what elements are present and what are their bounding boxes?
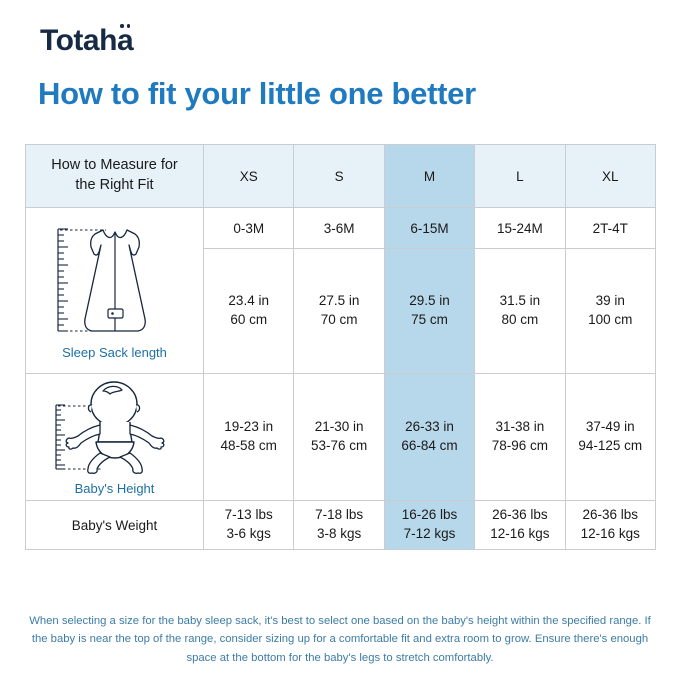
sizing-note: When selecting a size for the baby sleep… — [26, 612, 654, 667]
weight-xs: 7-13 lbs 3-6 kgs — [204, 501, 294, 550]
weight-xl: 26-36 lbs 12-16 kgs — [565, 501, 655, 550]
umlaut-dots-icon — [120, 24, 130, 28]
weight-m: 16-26 lbs 7-12 kgs — [384, 501, 474, 550]
sleep-sack-length-label: Sleep Sack length — [62, 345, 167, 360]
table-row-age: Sleep Sack length 0-3M 3-6M 6-15M 15-24M… — [26, 208, 656, 249]
table-row-baby-height: Baby's Height 19-23 in 48-58 cm 21-30 in… — [26, 374, 656, 501]
brand-umlaut-letter: a — [117, 26, 133, 56]
page-title: How to fit your little one better — [38, 76, 476, 112]
length-xl: 39 in 100 cm — [565, 249, 655, 374]
length-l: 31.5 in 80 cm — [475, 249, 565, 374]
height-xs: 19-23 in 48-58 cm — [204, 374, 294, 501]
size-chart-page: Totaha How to fit your little one better… — [0, 0, 679, 679]
baby-height-label: Baby's Height — [75, 481, 155, 496]
weight-l: 26-36 lbs 12-16 kgs — [475, 501, 565, 550]
height-xl: 37-49 in 94-125 cm — [565, 374, 655, 501]
length-m: 29.5 in 75 cm — [384, 249, 474, 374]
brand-logo: Totaha — [40, 26, 133, 56]
age-m: 6-15M — [384, 208, 474, 249]
table-header-row: How to Measure for the Right Fit XS S M … — [26, 145, 656, 208]
length-s: 27.5 in 70 cm — [294, 249, 384, 374]
baby-illustration-cell: Baby's Height — [26, 374, 204, 501]
size-header-xl: XL — [565, 145, 655, 208]
brand-name-main: Totah — [40, 24, 117, 57]
table-header-measure-label: How to Measure for the Right Fit — [26, 145, 204, 208]
size-header-s: S — [294, 145, 384, 208]
table-row-baby-weight: Baby's Weight 7-13 lbs 3-6 kgs 7-18 lbs … — [26, 501, 656, 550]
size-chart-table: How to Measure for the Right Fit XS S M … — [25, 144, 656, 550]
height-m: 26-33 in 66-84 cm — [384, 374, 474, 501]
baby-weight-label: Baby's Weight — [26, 501, 204, 550]
size-header-xs: XS — [204, 145, 294, 208]
height-l: 31-38 in 78-96 cm — [475, 374, 565, 501]
age-l: 15-24M — [475, 208, 565, 249]
weight-s: 7-18 lbs 3-8 kgs — [294, 501, 384, 550]
sleep-sack-illustration-cell: Sleep Sack length — [26, 208, 204, 374]
size-chart-table-container: How to Measure for the Right Fit XS S M … — [25, 144, 655, 550]
baby-icon — [40, 379, 190, 475]
height-s: 21-30 in 53-76 cm — [294, 374, 384, 501]
brand-umlaut-base: a — [117, 24, 133, 57]
size-header-m: M — [384, 145, 474, 208]
age-xs: 0-3M — [204, 208, 294, 249]
sleep-sack-icon — [40, 221, 190, 339]
size-header-l: L — [475, 145, 565, 208]
length-xs: 23.4 in 60 cm — [204, 249, 294, 374]
age-s: 3-6M — [294, 208, 384, 249]
age-xl: 2T-4T — [565, 208, 655, 249]
